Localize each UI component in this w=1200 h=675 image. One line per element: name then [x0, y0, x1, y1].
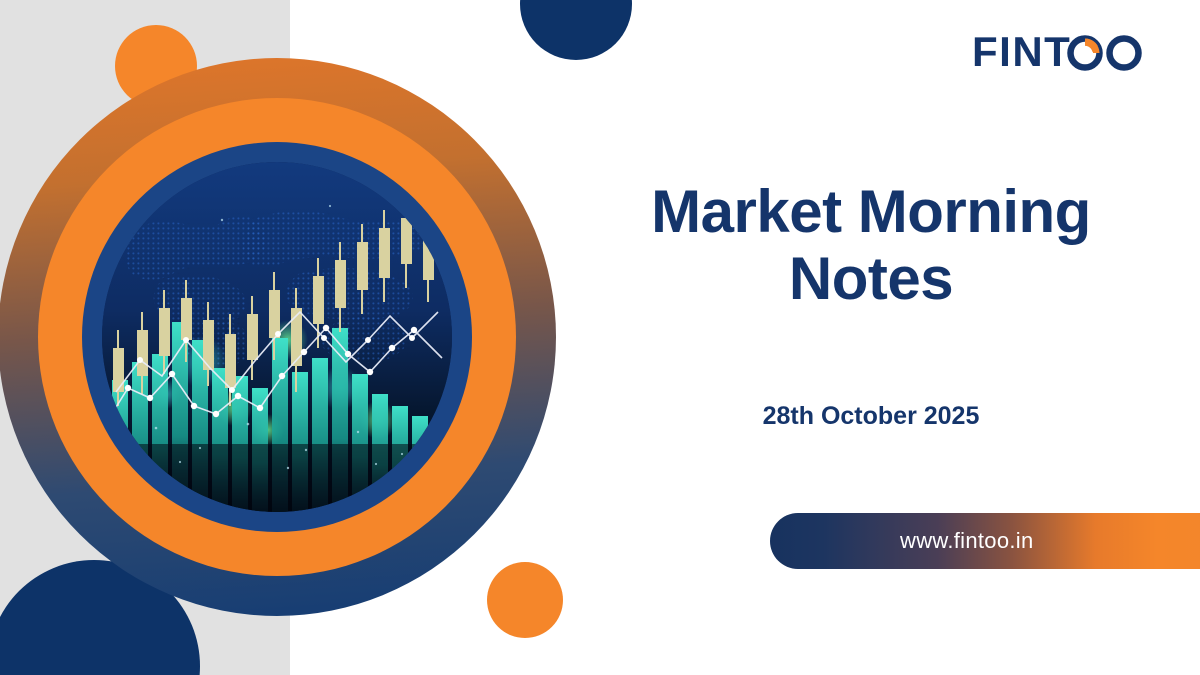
title-line-1: Market Morning: [585, 178, 1157, 245]
market-chart-globe-icon: [102, 162, 452, 512]
publication-date: 28th October 2025: [585, 402, 1157, 431]
poster-canvas: FINT Market Morning Notes 28th October 2…: [0, 0, 1200, 675]
svg-text:FINT: FINT: [972, 28, 1071, 75]
title-line-2: Notes: [585, 245, 1157, 312]
website-url-text: www.fintoo.in: [900, 528, 1034, 554]
page-title: Market Morning Notes: [585, 178, 1157, 312]
hero-graphic: [0, 58, 584, 616]
navy-circle-top-icon: [520, 0, 632, 60]
website-url-banner[interactable]: www.fintoo.in: [770, 513, 1200, 569]
fintoo-logo[interactable]: FINT: [972, 28, 1172, 78]
